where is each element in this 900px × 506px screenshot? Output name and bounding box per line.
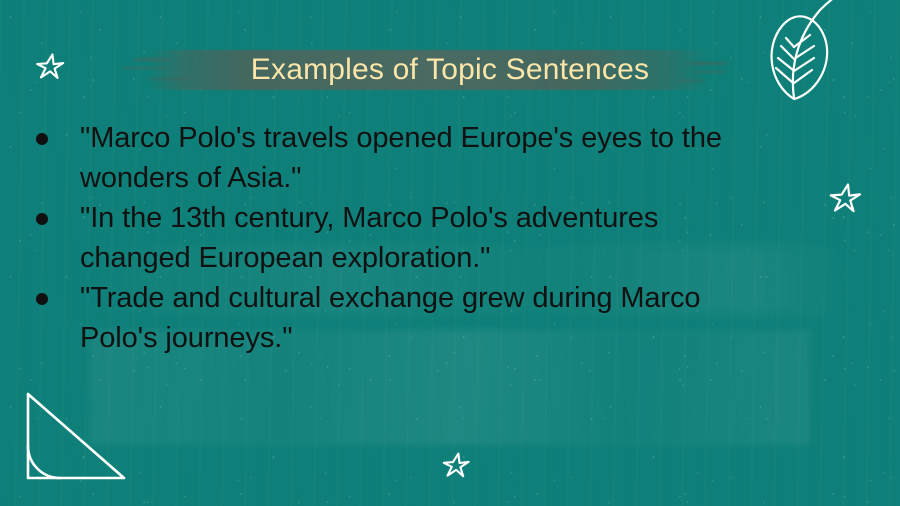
bullet-point-icon — [36, 293, 48, 305]
list-item: "In the 13th century, Marco Polo's adven… — [36, 198, 756, 278]
bullet-text: "Marco Polo's travels opened Europe's ey… — [48, 118, 756, 198]
list-item: "Trade and cultural exchange grew during… — [36, 278, 756, 358]
bullet-point-icon — [36, 133, 48, 145]
bullet-point-icon — [36, 213, 48, 225]
slide-canvas: Examples of Topic Sentences "Marco Polo'… — [0, 0, 900, 506]
bullet-text: "In the 13th century, Marco Polo's adven… — [48, 198, 756, 278]
bullet-list: "Marco Polo's travels opened Europe's ey… — [36, 118, 756, 358]
list-item: "Marco Polo's travels opened Europe's ey… — [36, 118, 756, 198]
page-title: Examples of Topic Sentences — [0, 40, 900, 100]
title-area: Examples of Topic Sentences — [0, 40, 900, 102]
bullet-text: "Trade and cultural exchange grew during… — [48, 278, 756, 358]
